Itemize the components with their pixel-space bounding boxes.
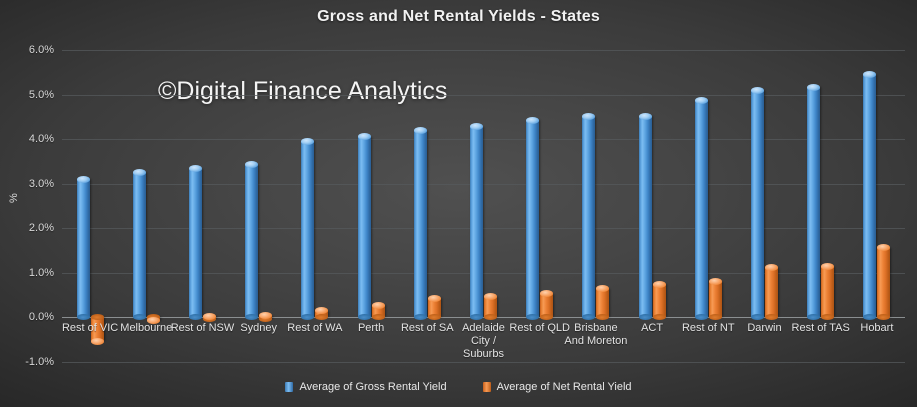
bar-orange[interactable] (709, 282, 722, 317)
bar-base-ellipse (315, 314, 328, 320)
bar-blue[interactable] (751, 90, 764, 317)
bar-top-ellipse (751, 87, 764, 94)
bar-body (470, 127, 483, 317)
bar-group (793, 50, 849, 362)
bar-group (680, 50, 736, 362)
x-axis-tick-label: Rest of SA (395, 322, 459, 335)
bar-blue[interactable] (863, 75, 876, 317)
bar-base-ellipse (77, 314, 90, 320)
rental-yields-chart: Gross and Net Rental Yields - States ©Di… (0, 0, 917, 407)
chart-legend: Average of Gross Rental YieldAverage of … (0, 381, 917, 393)
x-axis-tick-label: Adelaide City / Suburbs (451, 322, 515, 361)
bar-base-ellipse (596, 314, 609, 320)
bar-blue[interactable] (639, 116, 652, 317)
x-axis-tick-label: Sydney (227, 322, 291, 335)
bar-group (62, 50, 118, 362)
bar-orange[interactable] (315, 311, 328, 317)
bar-body (358, 137, 371, 317)
bar-base-ellipse (653, 314, 666, 320)
bar-group (736, 50, 792, 362)
bar-orange[interactable] (765, 268, 778, 317)
bar-body (245, 165, 258, 317)
bar-base-ellipse (526, 314, 539, 320)
bar-body (414, 131, 427, 317)
bar-body (695, 100, 708, 317)
bar-top-ellipse (372, 302, 385, 309)
bar-base-ellipse (133, 314, 146, 320)
x-axis-tick-label: Brisbane And Moreton (564, 322, 628, 348)
bar-top-ellipse (695, 97, 708, 104)
bar-blue[interactable] (695, 100, 708, 317)
bar-base-ellipse (695, 314, 708, 320)
x-axis-tick-label: Darwin (732, 322, 796, 335)
bar-group (568, 50, 624, 362)
bar-orange[interactable] (596, 289, 609, 317)
bar-top-ellipse (653, 281, 666, 288)
bar-body (653, 284, 666, 317)
bar-top-ellipse (526, 117, 539, 124)
legend-label: Average of Gross Rental Yield (299, 381, 446, 393)
bar-blue[interactable] (245, 165, 258, 317)
bar-base-ellipse (863, 314, 876, 320)
bar-blue[interactable] (77, 179, 90, 317)
x-axis-tick-label: Perth (339, 322, 403, 335)
y-axis-tick-label: -1.0% (25, 356, 54, 368)
bar-base-ellipse (189, 314, 202, 320)
bar-orange[interactable] (540, 294, 553, 317)
bar-body (821, 267, 834, 317)
bar-top-ellipse (203, 313, 216, 320)
bar-body (863, 75, 876, 317)
bar-base-ellipse (540, 314, 553, 320)
y-axis-tick-label: 4.0% (29, 133, 54, 145)
y-axis-tick-label: 6.0% (29, 44, 54, 56)
legend-swatch-icon (483, 382, 491, 392)
legend-label: Average of Net Rental Yield (497, 381, 632, 393)
bar-group (174, 50, 230, 362)
legend-item[interactable]: Average of Gross Rental Yield (285, 381, 446, 393)
x-axis-tick-label: Rest of WA (283, 322, 347, 335)
y-axis-tick-label: 2.0% (29, 222, 54, 234)
bar-body (709, 282, 722, 317)
bar-group (399, 50, 455, 362)
x-axis-tick-label: Rest of NSW (170, 322, 234, 335)
legend-swatch-icon (285, 382, 293, 392)
bar-top-ellipse (470, 123, 483, 130)
bar-body (751, 90, 764, 317)
bar-group (624, 50, 680, 362)
chart-title: Gross and Net Rental Yields - States (0, 8, 917, 26)
bar-blue[interactable] (133, 172, 146, 317)
bar-base-ellipse (821, 314, 834, 320)
bar-base-ellipse (414, 314, 427, 320)
bar-base-ellipse (751, 314, 764, 320)
bar-base-ellipse (807, 314, 820, 320)
bar-top-ellipse (807, 84, 820, 91)
bar-base-ellipse (301, 314, 314, 320)
bar-base-ellipse (709, 314, 722, 320)
bar-base-ellipse (245, 314, 258, 320)
bar-body (765, 268, 778, 317)
bar-base-ellipse (765, 314, 778, 320)
bar-group (287, 50, 343, 362)
y-axis-title: % (8, 193, 20, 203)
bar-top-ellipse (77, 176, 90, 183)
bar-body (301, 141, 314, 317)
bar-base-ellipse (372, 314, 385, 320)
x-axis-tick-label: Rest of QLD (508, 322, 572, 335)
bar-body (189, 169, 202, 317)
bar-top-ellipse (428, 295, 441, 302)
bar-orange[interactable] (428, 298, 441, 317)
bar-base-ellipse (484, 314, 497, 320)
y-axis-tick-label: 0.0% (29, 311, 54, 323)
x-axis-tick-label: Rest of TAS (789, 322, 853, 335)
bar-orange[interactable] (372, 305, 385, 317)
bar-body (526, 120, 539, 317)
bar-blue[interactable] (470, 127, 483, 317)
x-axis: Rest of VICMelbourneRest of NSWSydneyRes… (62, 322, 905, 374)
bar-blue[interactable] (301, 141, 314, 317)
y-axis: 6.0%5.0%4.0%3.0%2.0%1.0%0.0%-1.0% (0, 0, 62, 407)
x-axis-tick-label: Rest of VIC (58, 322, 122, 335)
bar-base-ellipse (91, 314, 104, 320)
x-axis-tick-label: ACT (620, 322, 684, 335)
bar-base-ellipse (877, 314, 890, 320)
y-axis-tick-label: 5.0% (29, 89, 54, 101)
bar-body (582, 117, 595, 317)
y-axis-tick-label: 3.0% (29, 178, 54, 190)
x-axis-tick-label: Hobart (845, 322, 909, 335)
bar-body (639, 116, 652, 317)
bar-base-ellipse (358, 314, 371, 320)
bar-blue[interactable] (582, 117, 595, 317)
bar-blue[interactable] (414, 131, 427, 317)
bar-group (343, 50, 399, 362)
x-axis-tick-label: Melbourne (114, 322, 178, 335)
legend-item[interactable]: Average of Net Rental Yield (483, 381, 632, 393)
bar-body (807, 87, 820, 317)
bar-base-ellipse (639, 314, 652, 320)
bar-orange[interactable] (821, 267, 834, 317)
bar-top-ellipse (639, 113, 652, 120)
bar-blue[interactable] (189, 169, 202, 317)
bar-body (77, 179, 90, 317)
bar-orange[interactable] (653, 284, 666, 317)
bar-body (133, 172, 146, 317)
bar-group (231, 50, 287, 362)
bar-orange[interactable] (877, 248, 890, 317)
bar-orange[interactable] (147, 317, 160, 321)
bar-orange[interactable] (484, 297, 497, 317)
bar-orange[interactable] (259, 316, 272, 319)
bar-base-ellipse (582, 314, 595, 320)
bar-blue[interactable] (526, 120, 539, 317)
bar-base-ellipse (428, 314, 441, 320)
bar-blue[interactable] (358, 137, 371, 317)
bar-orange[interactable] (203, 316, 216, 319)
y-axis-tick-label: 1.0% (29, 267, 54, 279)
x-axis-tick-label: Rest of NT (676, 322, 740, 335)
bar-group (118, 50, 174, 362)
bar-body (596, 289, 609, 317)
bar-top-ellipse (133, 169, 146, 176)
plot-area (62, 50, 905, 362)
bar-blue[interactable] (807, 87, 820, 317)
bar-top-ellipse (301, 138, 314, 145)
bar-base-ellipse (470, 314, 483, 320)
bar-group (455, 50, 511, 362)
bar-group (512, 50, 568, 362)
bar-body (877, 248, 890, 317)
bar-group (849, 50, 905, 362)
